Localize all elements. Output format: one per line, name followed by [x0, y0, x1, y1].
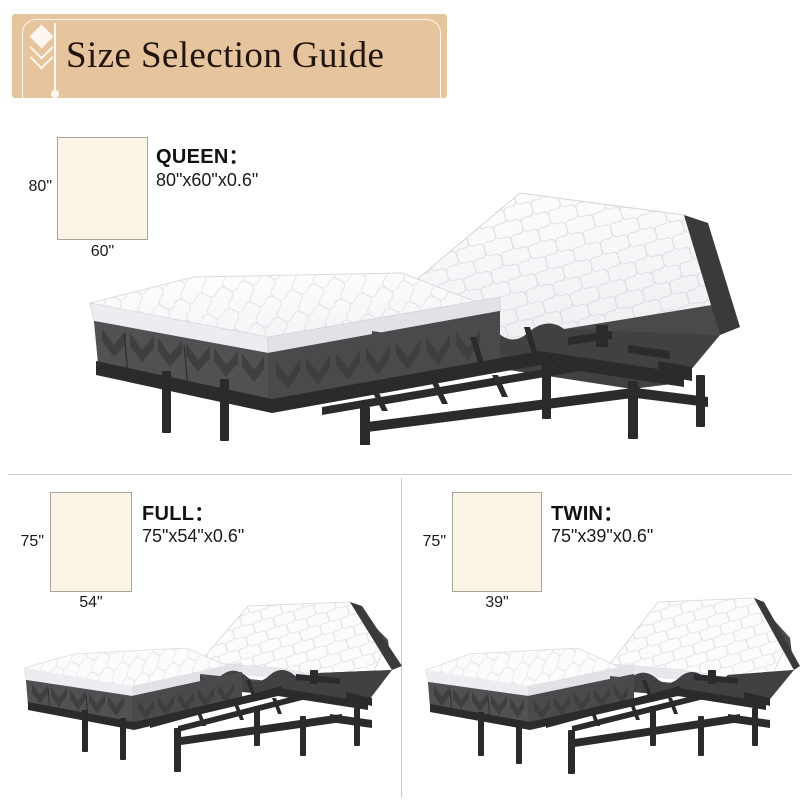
ornament-dot — [51, 90, 59, 98]
adjustable-bed-image-twin — [410, 592, 800, 792]
size-name-queen: QUEEN： — [156, 140, 249, 169]
horizontal-divider — [8, 474, 792, 475]
size-name-full: FULL： — [142, 497, 215, 526]
page-title: Size Selection Guide — [66, 28, 384, 84]
size-selection-guide-page: Size Selection Guide 80" 60" QUEEN： 80"x… — [0, 0, 800, 800]
diamond-stack-icon — [29, 26, 63, 96]
size-height-label-twin: 75" — [404, 533, 446, 551]
size-dimensions-full: 75"x54"x0.6" — [142, 526, 244, 547]
adjustable-bed-image-full — [10, 592, 402, 792]
size-swatch-full — [50, 492, 132, 592]
size-height-label-queen: 80" — [8, 178, 52, 196]
size-name-twin: TWIN： — [551, 497, 624, 526]
adjustable-bed-image-queen — [72, 185, 752, 445]
ornament-vertical-line — [54, 23, 56, 92]
header-banner: Size Selection Guide — [12, 14, 447, 98]
size-swatch-twin — [452, 492, 542, 592]
size-height-label-full: 75" — [2, 533, 44, 551]
size-dimensions-twin: 75"x39"x0.6" — [551, 526, 653, 547]
